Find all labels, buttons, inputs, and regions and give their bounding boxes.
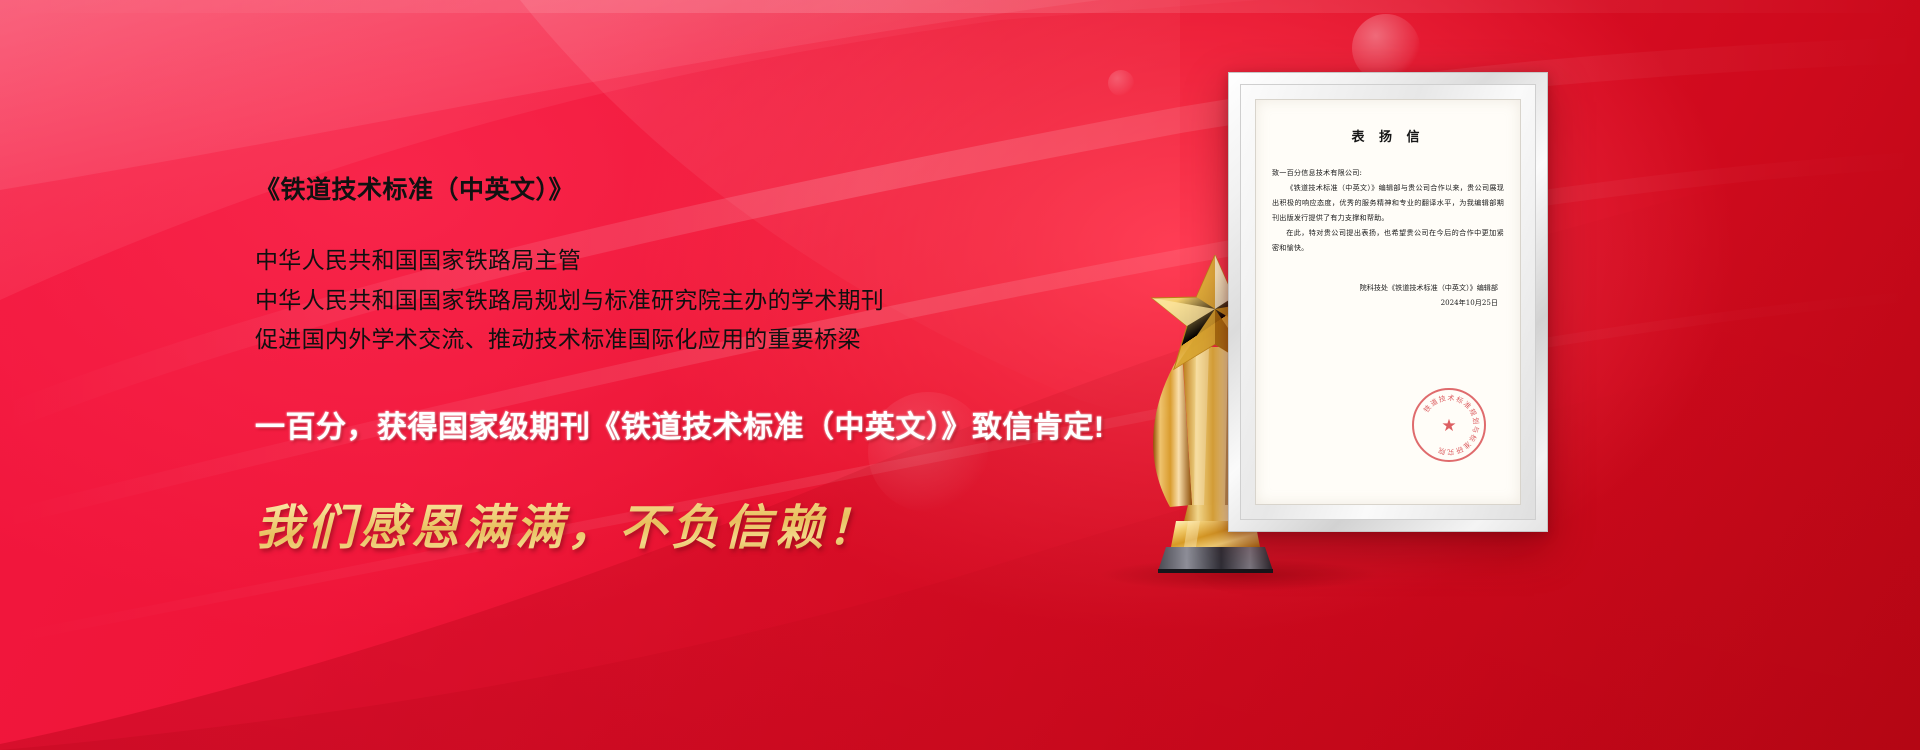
description-line-2: 中华人民共和国国家铁路局规划与标准研究院主办的学术期刊 xyxy=(255,281,1195,321)
banner-copy-block: 《铁道技术标准（中英文）》 中华人民共和国国家铁路局主管 中华人民共和国国家铁路… xyxy=(255,175,1195,558)
description-line-1: 中华人民共和国国家铁路局主管 xyxy=(255,241,1195,281)
journal-title: 《铁道技术标准（中英文）》 xyxy=(255,175,1195,205)
certificate-paragraph-1: 《铁道技术标准（中英文）》编辑部与贵公司合作以来，贵公司展现出积极的响应态度，优… xyxy=(1272,180,1504,225)
description-line-3: 促进国内外学术交流、推动技术标准国际化应用的重要桥梁 xyxy=(255,320,1195,360)
signature-date: 2024年10月25日 xyxy=(1272,296,1498,311)
certificate-frame: 表 扬 信 致一百分信息技术有限公司: 《铁道技术标准（中英文）》编辑部与贵公司… xyxy=(1228,72,1548,532)
description-block: 中华人民共和国国家铁路局主管 中华人民共和国国家铁路局规划与标准研究院主办的学术… xyxy=(255,241,1195,360)
certificate-title: 表 扬 信 xyxy=(1272,126,1504,145)
signature-organization: 院科技处《铁道技术标准（中英文）》编辑部 xyxy=(1272,281,1498,296)
certificate-paragraph-2: 在此，特对贵公司提出表扬，也希望贵公司在今后的合作中更加紧密和愉快。 xyxy=(1272,225,1504,255)
promo-banner: 《铁道技术标准（中英文）》 中华人民共和国国家铁路局主管 中华人民共和国国家铁路… xyxy=(0,0,1920,750)
svg-text:铁道技术标准规划与标准研究院: 铁道技术标准规划与标准研究院 xyxy=(1422,393,1481,457)
frame-outer: 表 扬 信 致一百分信息技术有限公司: 《铁道技术标准（中英文）》编辑部与贵公司… xyxy=(1228,72,1548,532)
banner-slogan: 我们感恩满满，不负信赖！ xyxy=(255,488,1195,558)
banner-headline: 一百分，获得国家级期刊《铁道技术标准（中英文）》致信肯定! xyxy=(255,402,1195,446)
certificate-signature: 院科技处《铁道技术标准（中英文）》编辑部 2024年10月25日 xyxy=(1272,281,1504,311)
certificate-salutation: 致一百分信息技术有限公司: xyxy=(1272,165,1504,180)
seal-text: 铁道技术标准规划与标准研究院 xyxy=(1422,393,1481,457)
red-stamp-seal-icon: 铁道技术标准规划与标准研究院 ★ xyxy=(1412,388,1486,462)
certificate-paper: 表 扬 信 致一百分信息技术有限公司: 《铁道技术标准（中英文）》编辑部与贵公司… xyxy=(1255,99,1521,505)
